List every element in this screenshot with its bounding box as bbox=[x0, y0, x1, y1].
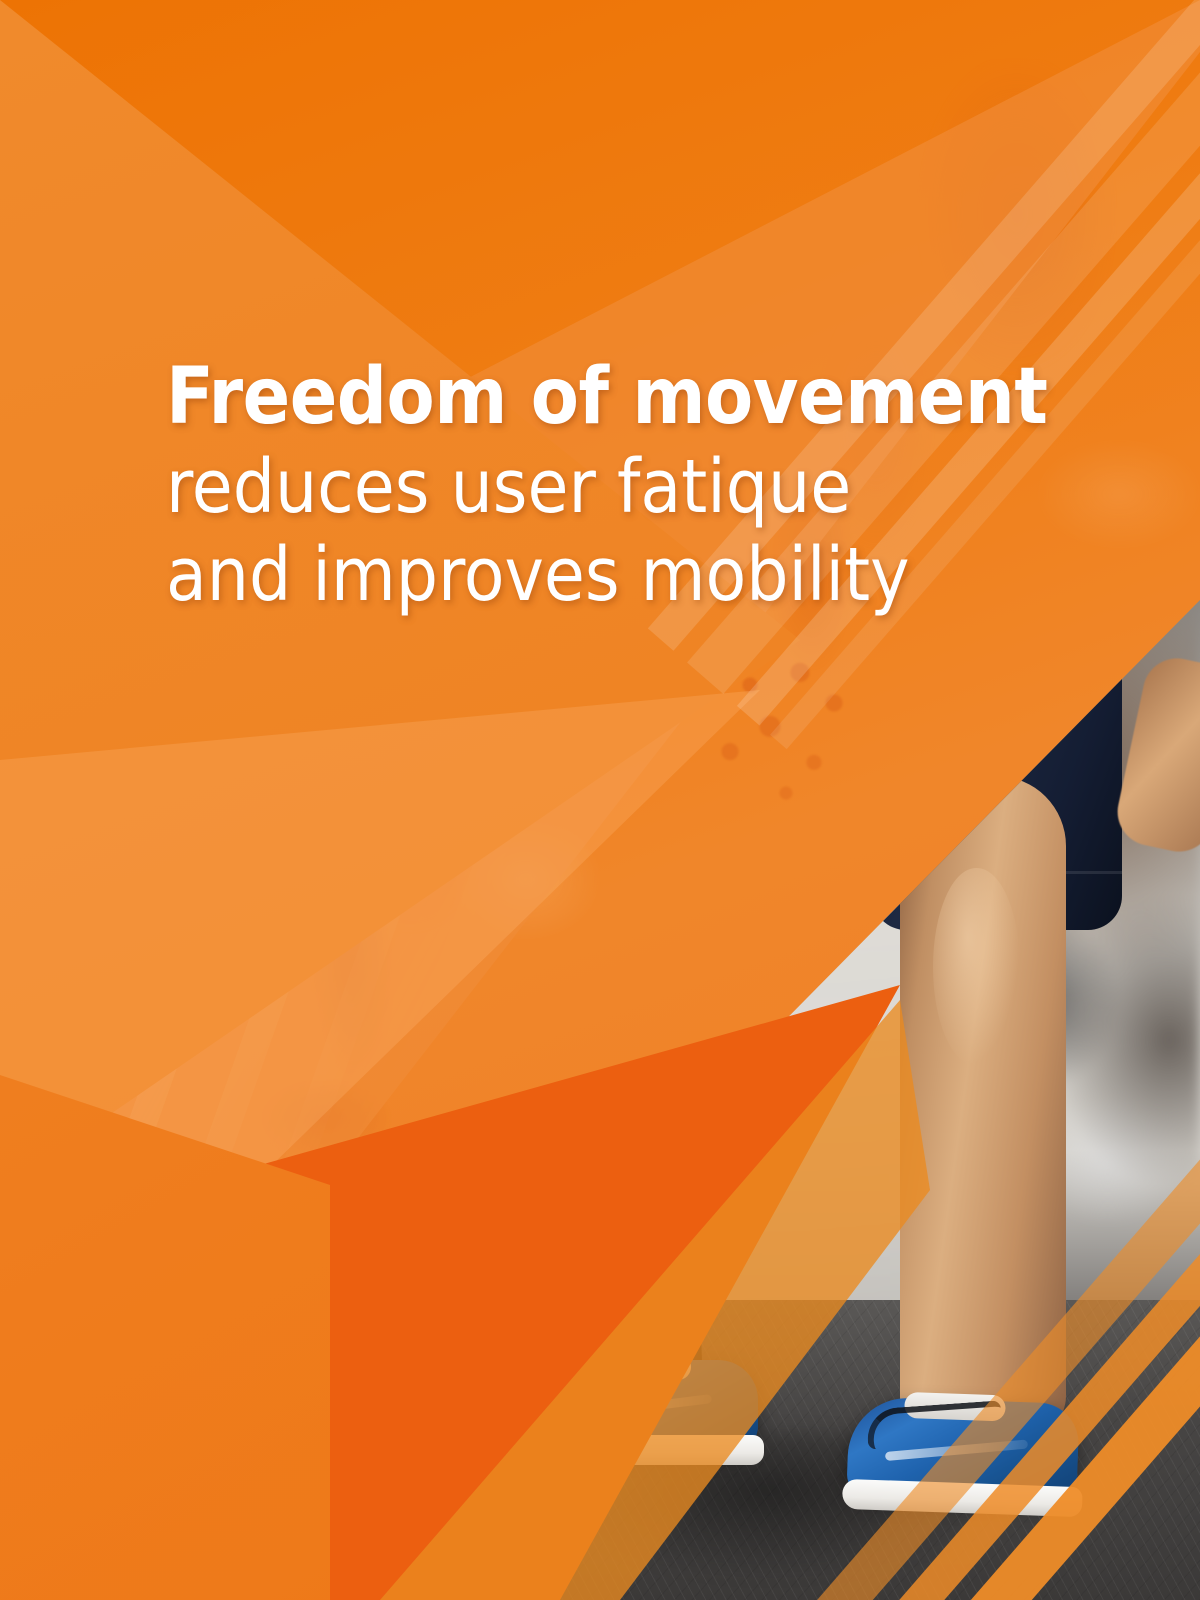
shoe-sole bbox=[544, 1435, 764, 1465]
headline-line-2: reduces user fatique bbox=[166, 450, 1106, 524]
shoe-right bbox=[846, 1396, 1079, 1504]
shoe-laces bbox=[866, 1400, 1003, 1449]
headline-line-1: Freedom of movement bbox=[166, 358, 1106, 436]
headline-line-3: and improves mobility bbox=[166, 538, 1106, 612]
shoe-left bbox=[548, 1360, 758, 1452]
seated-athlete-photo bbox=[180, 640, 660, 1160]
headline-block: Freedom of movement reduces user fatique… bbox=[166, 358, 1106, 626]
poster-canvas: Freedom of movement reduces user fatique… bbox=[0, 0, 1200, 1600]
